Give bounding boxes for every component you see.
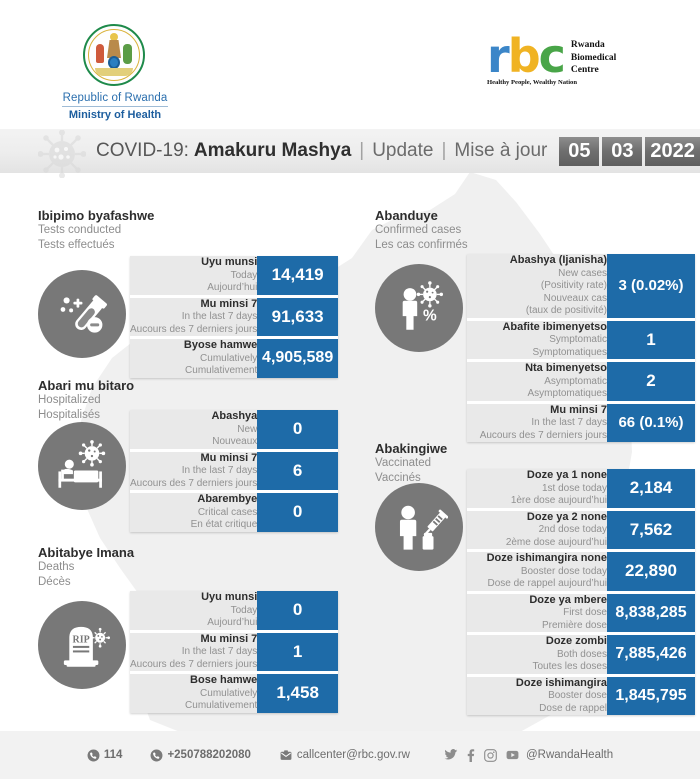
instagram-icon[interactable] bbox=[484, 749, 497, 762]
row-label-en: Booster dose today bbox=[467, 566, 607, 579]
ministry-of-health-logo: Republic of Rwanda Ministry of Health bbox=[56, 24, 174, 121]
deaths-table: Uyu munsi Today Aujourd’hui 0 Mu minsi 7… bbox=[130, 591, 338, 713]
vaccinated-heading: Abakingiwe Vaccinated Vaccinés bbox=[375, 441, 447, 486]
rbc-logo: rbc Rwanda Biomedical Centre Healthy Peo… bbox=[487, 36, 662, 86]
row-label-rw: Mu minsi 7 bbox=[130, 452, 257, 466]
table-row: Doze ya 1 none 1st dose today 1ère dose … bbox=[467, 469, 695, 511]
row-label-en: Symptomatic bbox=[467, 334, 607, 347]
row-value: 7,562 bbox=[607, 511, 695, 553]
coronavirus-icon bbox=[38, 130, 86, 178]
person-percent-virus-icon: % bbox=[375, 264, 463, 352]
hospitalized-heading: Abari mu bitaro Hospitalized Hospitalisé… bbox=[38, 378, 134, 423]
row-label-fr: Cumulativement bbox=[130, 700, 257, 713]
row-label-en: Cumulatively bbox=[130, 688, 257, 701]
table-row: Uyu munsi Today Aujourd’hui 0 bbox=[130, 591, 338, 633]
table-row: Uyu munsi Today Aujourd’hui 14,419 bbox=[130, 256, 338, 298]
table-row: Doze ishimangira none Booster dose today… bbox=[467, 552, 695, 594]
confirmed-title-fr: Les cas confirmés bbox=[375, 238, 468, 253]
row-value: 22,890 bbox=[607, 552, 695, 594]
tests-table: Uyu munsi Today Aujourd’hui 14,419 Mu mi… bbox=[130, 256, 338, 378]
row-label-fr: 1ère dose aujourd’hui bbox=[467, 495, 607, 508]
row-label-rw: Mu minsi 7 bbox=[467, 404, 607, 418]
row-label-rw: Mu minsi 7 bbox=[130, 633, 257, 647]
row-label-en: 2nd dose today bbox=[467, 524, 607, 537]
deaths-title-en: Deaths bbox=[38, 560, 134, 575]
row-label-fr: Nouveaux bbox=[130, 436, 257, 449]
row-label-en: Cumulatively bbox=[130, 353, 257, 366]
footer-phone-number: +250788202080 bbox=[167, 749, 250, 761]
hospitalized-table: Abashya New Nouveaux 0 Mu minsi 7 In the… bbox=[130, 410, 338, 532]
phone-icon bbox=[87, 749, 100, 762]
svg-text:RIP: RIP bbox=[73, 634, 90, 645]
footer-phone[interactable]: +250788202080 bbox=[150, 749, 250, 762]
row-label-en: Today bbox=[130, 270, 257, 283]
row-label-rw: Abafite ibimenyetso bbox=[467, 321, 607, 335]
footer-email-address: callcenter@rbc.gov.rw bbox=[297, 749, 410, 761]
title-separator-2: | bbox=[441, 140, 446, 162]
tests-title-rw: Ibipimo byafashwe bbox=[38, 208, 154, 223]
footer-hotline-number: 114 bbox=[104, 749, 123, 761]
table-row: Byose hamwe Cumulatively Cumulativement … bbox=[130, 339, 338, 378]
row-label-en: 1st dose today bbox=[467, 483, 607, 496]
row-label-fr: Nouveaux cas bbox=[467, 293, 607, 306]
table-row: Mu minsi 7 In the last 7 days Aucours de… bbox=[130, 633, 338, 675]
row-value: 0 bbox=[257, 410, 338, 452]
row-label-rw: Doze ya mbere bbox=[467, 594, 607, 608]
rbc-letter-b: b bbox=[508, 29, 539, 83]
row-label-rw: Doze zombi bbox=[467, 635, 607, 649]
row-label-fr: Symptomatiques bbox=[467, 347, 607, 360]
hospital-bed-icon bbox=[38, 422, 126, 510]
row-label-rw: Doze ya 2 none bbox=[467, 511, 607, 525]
row-label-rw: Doze ishimangira none bbox=[467, 552, 607, 566]
tests-title-fr: Tests effectués bbox=[38, 238, 154, 253]
row-label-rw: Abashya (Ijanisha) bbox=[467, 254, 607, 268]
table-row: Abarembye Critical cases En état critiqu… bbox=[130, 493, 338, 532]
logo-band: Republic of Rwanda Ministry of Health rb… bbox=[0, 0, 700, 125]
tests-heading: Ibipimo byafashwe Tests conducted Tests … bbox=[38, 208, 154, 253]
test-tube-icon bbox=[38, 270, 126, 358]
rbc-name-line2: Biomedical bbox=[571, 52, 616, 65]
table-row: Doze ya 2 none 2nd dose today 2ème dose … bbox=[467, 511, 695, 553]
row-label-fr: Aucours des 7 derniers jours bbox=[130, 324, 257, 337]
title-separator-1: | bbox=[359, 140, 364, 162]
row-value: 4,905,589 bbox=[257, 339, 338, 378]
moh-divider bbox=[62, 106, 168, 107]
row-label-en: New cases bbox=[467, 268, 607, 281]
row-label-en: New bbox=[130, 424, 257, 437]
rbc-wordmark: rbc bbox=[487, 36, 564, 76]
confirmed-title-en: Confirmed cases bbox=[375, 223, 468, 238]
rbc-name-line3: Centre bbox=[571, 64, 616, 77]
row-label-en: Asymptomatic bbox=[467, 376, 607, 389]
rbc-name-line1: Rwanda bbox=[571, 39, 616, 52]
title-english: Update bbox=[372, 140, 433, 162]
deaths-heading: Abitabye Imana Deaths Décès bbox=[38, 545, 134, 590]
table-row: Doze ya mbere First dose Première dose 8… bbox=[467, 594, 695, 636]
tombstone-rip-icon: RIP bbox=[38, 601, 126, 689]
row-label-rw: Bose hamwe bbox=[130, 674, 257, 688]
table-row: Doze ishimangira Booster dose Dose de ra… bbox=[467, 677, 695, 716]
rbc-tagline: Healthy People, Wealthy Nation bbox=[487, 79, 662, 86]
deaths-title-fr: Décès bbox=[38, 575, 134, 590]
row-label-fr-2: (taux de positivité) bbox=[467, 305, 607, 318]
row-label-en: Critical cases bbox=[130, 507, 257, 520]
row-value: 1,458 bbox=[257, 674, 338, 713]
row-label-en: In the last 7 days bbox=[130, 646, 257, 659]
title-bar: COVID-19: Amakuru Mashya | Update | Mise… bbox=[0, 129, 700, 173]
youtube-icon[interactable] bbox=[506, 749, 519, 761]
row-label-en: In the last 7 days bbox=[130, 465, 257, 478]
confirmed-title-rw: Abanduye bbox=[375, 208, 468, 223]
row-value: 2,184 bbox=[607, 469, 695, 511]
footer: 114 +250788202080 callcenter@rbc.gov.rw bbox=[0, 731, 700, 779]
row-label-fr: Aujourd’hui bbox=[130, 282, 257, 295]
table-row: Mu minsi 7 In the last 7 days Aucours de… bbox=[130, 452, 338, 494]
row-label-fr: Aucours des 7 derniers jours bbox=[130, 659, 257, 672]
table-row: Abashya (Ijanisha) New cases (Positivity… bbox=[467, 254, 695, 321]
moh-ministry-label: Ministry of Health bbox=[56, 109, 174, 121]
row-value: 0 bbox=[257, 493, 338, 532]
row-label-fr: En état critique bbox=[130, 519, 257, 532]
moh-country-label: Republic of Rwanda bbox=[56, 92, 174, 104]
rbc-letter-c: c bbox=[539, 29, 564, 83]
footer-social-handle: @RwandaHealth bbox=[526, 749, 613, 761]
row-label-rw: Byose hamwe bbox=[130, 339, 257, 353]
table-row: Doze zombi Both doses Toutes les doses 7… bbox=[467, 635, 695, 677]
row-label-rw: Mu minsi 7 bbox=[130, 298, 257, 312]
row-label-rw: Uyu munsi bbox=[130, 591, 257, 605]
row-label-fr: Asymptomatiques bbox=[467, 388, 607, 401]
twitter-icon[interactable] bbox=[444, 749, 458, 761]
row-label-en: In the last 7 days bbox=[130, 311, 257, 324]
date-day: 05 bbox=[559, 137, 599, 166]
update-date: 05 03 2022 bbox=[559, 137, 700, 166]
title-kinyarwanda: Amakuru Mashya bbox=[194, 140, 351, 162]
row-label-fr: Toutes les doses bbox=[467, 661, 607, 674]
email-icon bbox=[279, 749, 293, 762]
deaths-title-rw: Abitabye Imana bbox=[38, 545, 134, 560]
row-label-en: Both doses bbox=[467, 649, 607, 662]
table-row: Mu minsi 7 In the last 7 days Aucours de… bbox=[130, 298, 338, 340]
title-french: Mise à jour bbox=[454, 140, 547, 162]
row-label-rw: Uyu munsi bbox=[130, 256, 257, 270]
row-label-fr: Dose de rappel bbox=[467, 703, 607, 716]
facebook-icon[interactable] bbox=[467, 749, 475, 762]
rbc-letter-r: r bbox=[487, 29, 508, 83]
hospitalized-title-en: Hospitalized bbox=[38, 393, 134, 408]
confirmed-heading: Abanduye Confirmed cases Les cas confirm… bbox=[375, 208, 468, 253]
row-value: 91,633 bbox=[257, 298, 338, 340]
vaccinated-title-en: Vaccinated bbox=[375, 456, 447, 471]
person-syringe-vial-icon bbox=[375, 483, 463, 571]
row-value: 14,419 bbox=[257, 256, 338, 298]
row-label-fr: 2ème dose aujourd’hui bbox=[467, 537, 607, 550]
row-label-fr: Première dose bbox=[467, 620, 607, 633]
rbc-name: Rwanda Biomedical Centre bbox=[571, 39, 616, 77]
date-year: 2022 bbox=[645, 137, 700, 166]
date-month: 03 bbox=[602, 137, 642, 166]
row-value: 3 (0.02%) bbox=[607, 254, 695, 321]
row-value: 1 bbox=[257, 633, 338, 675]
row-label-rw: Abarembye bbox=[130, 493, 257, 507]
table-row: Mu minsi 7 In the last 7 days Aucours de… bbox=[467, 404, 695, 443]
row-label-en: Today bbox=[130, 605, 257, 618]
row-label-en: In the last 7 days bbox=[467, 417, 607, 430]
title-text: COVID-19: Amakuru Mashya | Update | Mise… bbox=[96, 137, 700, 166]
row-value: 66 (0.1%) bbox=[607, 404, 695, 443]
row-label-rw: Doze ishimangira bbox=[467, 677, 607, 691]
table-row: Nta bimenyetso Asymptomatic Asymptomatiq… bbox=[467, 362, 695, 404]
table-row: Bose hamwe Cumulatively Cumulativement 1… bbox=[130, 674, 338, 713]
tests-title-en: Tests conducted bbox=[38, 223, 154, 238]
phone-icon bbox=[150, 749, 163, 762]
row-label-fr: Aucours des 7 derniers jours bbox=[130, 478, 257, 491]
row-label-rw: Doze ya 1 none bbox=[467, 469, 607, 483]
row-value: 1,845,795 bbox=[607, 677, 695, 716]
row-label-en: Booster dose bbox=[467, 690, 607, 703]
footer-email[interactable]: callcenter@rbc.gov.rw bbox=[279, 749, 410, 762]
row-label-fr: Aujourd’hui bbox=[130, 617, 257, 630]
title-prefix: COVID-19: bbox=[96, 140, 189, 162]
footer-social: @RwandaHealth bbox=[438, 749, 613, 762]
row-value: 8,838,285 bbox=[607, 594, 695, 636]
row-value: 7,885,426 bbox=[607, 635, 695, 677]
vaccinated-table: Doze ya 1 none 1st dose today 1ère dose … bbox=[467, 469, 695, 715]
svg-text:%: % bbox=[423, 308, 437, 325]
social-icon-group bbox=[444, 749, 519, 762]
hospitalized-title-rw: Abari mu bitaro bbox=[38, 378, 134, 393]
footer-hotline[interactable]: 114 bbox=[87, 749, 123, 762]
row-value: 1 bbox=[607, 321, 695, 363]
row-label-rw: Abashya bbox=[130, 410, 257, 424]
hospitalized-title-fr: Hospitalisés bbox=[38, 408, 134, 423]
row-label-fr: Cumulativement bbox=[130, 365, 257, 378]
vaccinated-title-rw: Abakingiwe bbox=[375, 441, 447, 456]
rwanda-coat-of-arms-icon bbox=[83, 24, 147, 88]
row-label-rw: Nta bimenyetso bbox=[467, 362, 607, 376]
row-label-en: First dose bbox=[467, 607, 607, 620]
row-label-fr: Dose de rappel aujourd’hui bbox=[467, 578, 607, 591]
row-value: 6 bbox=[257, 452, 338, 494]
row-label-en-2: (Positivity rate) bbox=[467, 280, 607, 293]
table-row: Abafite ibimenyetso Symptomatic Symptoma… bbox=[467, 321, 695, 363]
table-row: Abashya New Nouveaux 0 bbox=[130, 410, 338, 452]
row-label-fr: Aucours des 7 derniers jours bbox=[467, 430, 607, 443]
row-value: 2 bbox=[607, 362, 695, 404]
confirmed-cases-table: Abashya (Ijanisha) New cases (Positivity… bbox=[467, 254, 695, 442]
row-value: 0 bbox=[257, 591, 338, 633]
